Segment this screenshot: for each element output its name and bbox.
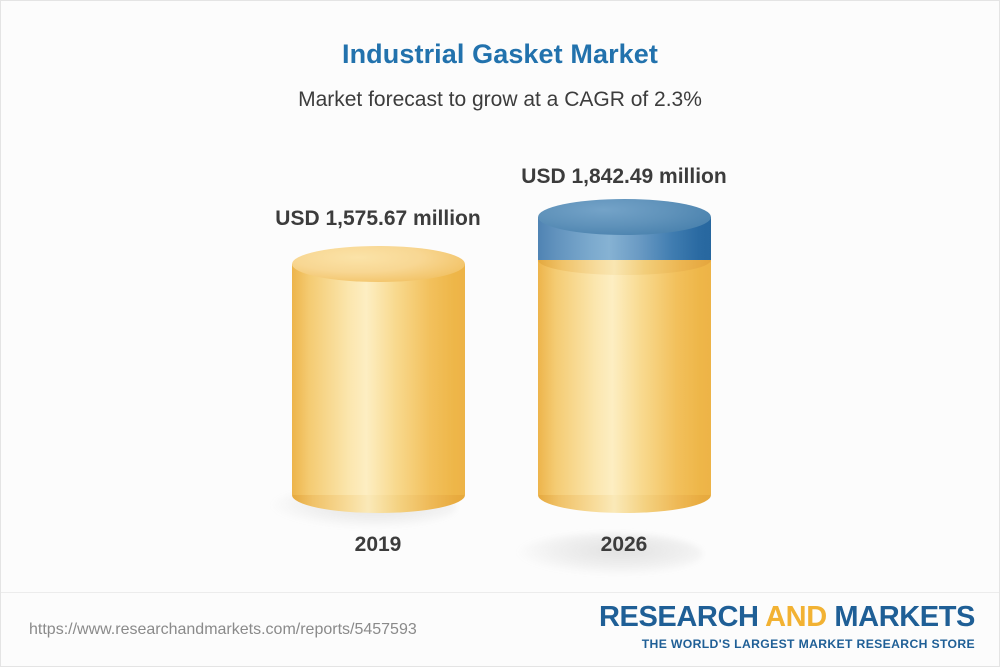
plot-area: USD 1,575.67 million 2019 USD 1,842.49 m…	[1, 1, 1000, 596]
axis-label-2019: 2019	[253, 533, 503, 557]
bar-value-label-2026: USD 1,842.49 million	[499, 165, 749, 189]
chart-canvas: Industrial Gasket Market Market forecast…	[0, 0, 1000, 667]
brand-wordmark: RESEARCH AND MARKETS	[599, 603, 975, 632]
cylinder-2019[interactable]	[292, 246, 465, 513]
bar-value-label-2019: USD 1,575.67 million	[253, 207, 503, 231]
cylinder-body-yellow-2026	[538, 260, 711, 495]
brand-logo[interactable]: RESEARCH AND MARKETS THE WORLD'S LARGEST…	[599, 603, 975, 651]
cylinder-top-cap-2026	[538, 199, 711, 235]
footer-divider	[1, 592, 999, 593]
brand-and-text: AND	[765, 601, 834, 633]
cylinder-body-yellow-2019	[292, 264, 465, 495]
brand-tagline: THE WORLD'S LARGEST MARKET RESEARCH STOR…	[599, 637, 975, 651]
brand-markets-text: MARKETS	[834, 601, 975, 633]
cylinder-top-cap-2019	[292, 246, 465, 282]
cylinder-2026[interactable]	[538, 199, 711, 513]
report-url[interactable]: https://www.researchandmarkets.com/repor…	[29, 621, 417, 639]
brand-research-text: RESEARCH	[599, 601, 765, 633]
axis-label-2026: 2026	[499, 533, 749, 557]
